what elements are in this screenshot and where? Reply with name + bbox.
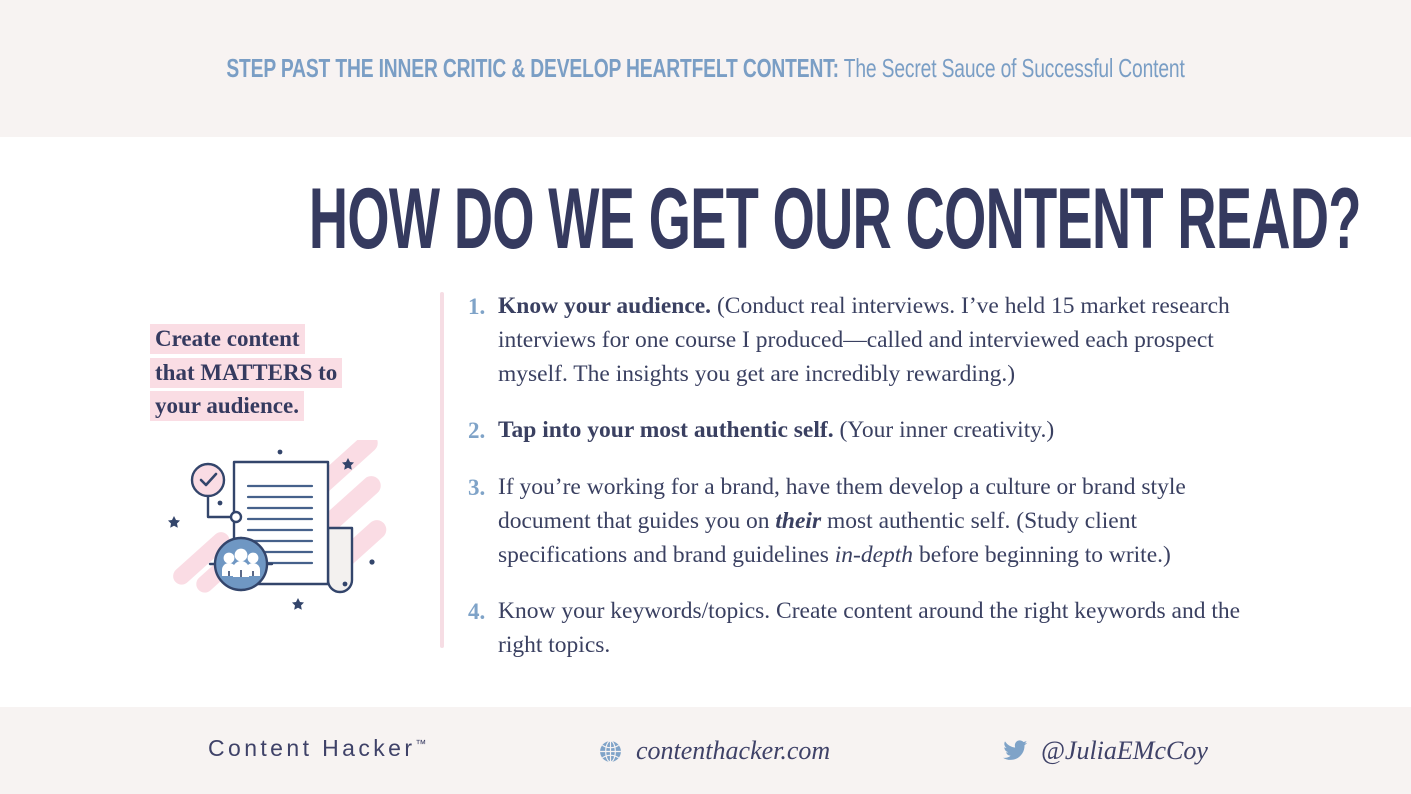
header-band: STEP PAST THE INNER CRITIC & DEVELOP HEA… — [0, 0, 1411, 137]
header-title-bold: STEP PAST THE INNER CRITIC & DEVELOP HEA… — [226, 53, 839, 83]
list-item-lead: Tap into your most authentic self. — [498, 417, 834, 443]
footer-website[interactable]: contenthacker.com — [598, 736, 830, 766]
globe-icon — [598, 739, 623, 764]
callout-text: Create content that MATTERS to your audi… — [150, 322, 420, 423]
footer-website-text[interactable]: contenthacker.com — [636, 736, 830, 766]
callout-line-2: that MATTERS to — [150, 358, 342, 388]
footer-twitter[interactable]: @JuliaEMcCoy — [1002, 736, 1208, 766]
document-audience-target-illustration — [160, 440, 400, 620]
list-item-number: 2. — [468, 413, 498, 447]
list-item-text: Tap into your most authentic self. (Your… — [498, 413, 1268, 447]
list-item-number: 4. — [468, 594, 498, 662]
list-item: 2. Tap into your most authentic self. (Y… — [468, 413, 1268, 447]
list-item-lead: Know your audience. — [498, 293, 711, 319]
callout-block: Create content that MATTERS to your audi… — [150, 322, 420, 423]
vertical-divider — [440, 292, 444, 648]
footer-brand-name: Content Hacker — [208, 735, 415, 761]
numbered-list: 1. Know your audience. (Conduct real int… — [468, 289, 1268, 662]
footer-twitter-text[interactable]: @JuliaEMcCoy — [1041, 736, 1208, 766]
page-title-text: HOW DO WE GET OUR CONTENT READ? — [309, 176, 1361, 262]
illustration — [160, 440, 400, 620]
list-item-number: 3. — [468, 470, 498, 572]
list-item-number: 1. — [468, 289, 498, 391]
callout-line-3: your audience. — [150, 391, 304, 421]
footer-brand-logo: Content Hacker™ — [208, 735, 426, 762]
list-item-body-c: before beginning to write.) — [913, 542, 1171, 568]
list-item: 1. Know your audience. (Conduct real int… — [468, 289, 1268, 391]
header-title: STEP PAST THE INNER CRITIC & DEVELOP HEA… — [226, 54, 1184, 83]
header-title-subtitle: The Secret Sauce of Successful Content — [839, 53, 1185, 83]
twitter-bird-icon — [1002, 740, 1028, 762]
callout-line-1: Create content — [150, 324, 305, 354]
list-item: 3. If you’re working for a brand, have t… — [468, 470, 1268, 572]
list-item-italic-indepth: in-depth — [835, 542, 913, 568]
trademark-symbol: ™ — [415, 738, 426, 750]
list-item-text: Know your keywords/topics. Create conten… — [498, 594, 1268, 662]
list-item-italic-their: their — [775, 508, 821, 534]
list-item-body: (Your inner creativity.) — [834, 417, 1055, 443]
list-item-text: Know your audience. (Conduct real interv… — [498, 289, 1268, 391]
page-title: HOW DO WE GET OUR CONTENT READ? — [0, 176, 1411, 262]
list-item: 4. Know your keywords/topics. Create con… — [468, 594, 1268, 662]
list-item-text: If you’re working for a brand, have them… — [498, 470, 1268, 572]
